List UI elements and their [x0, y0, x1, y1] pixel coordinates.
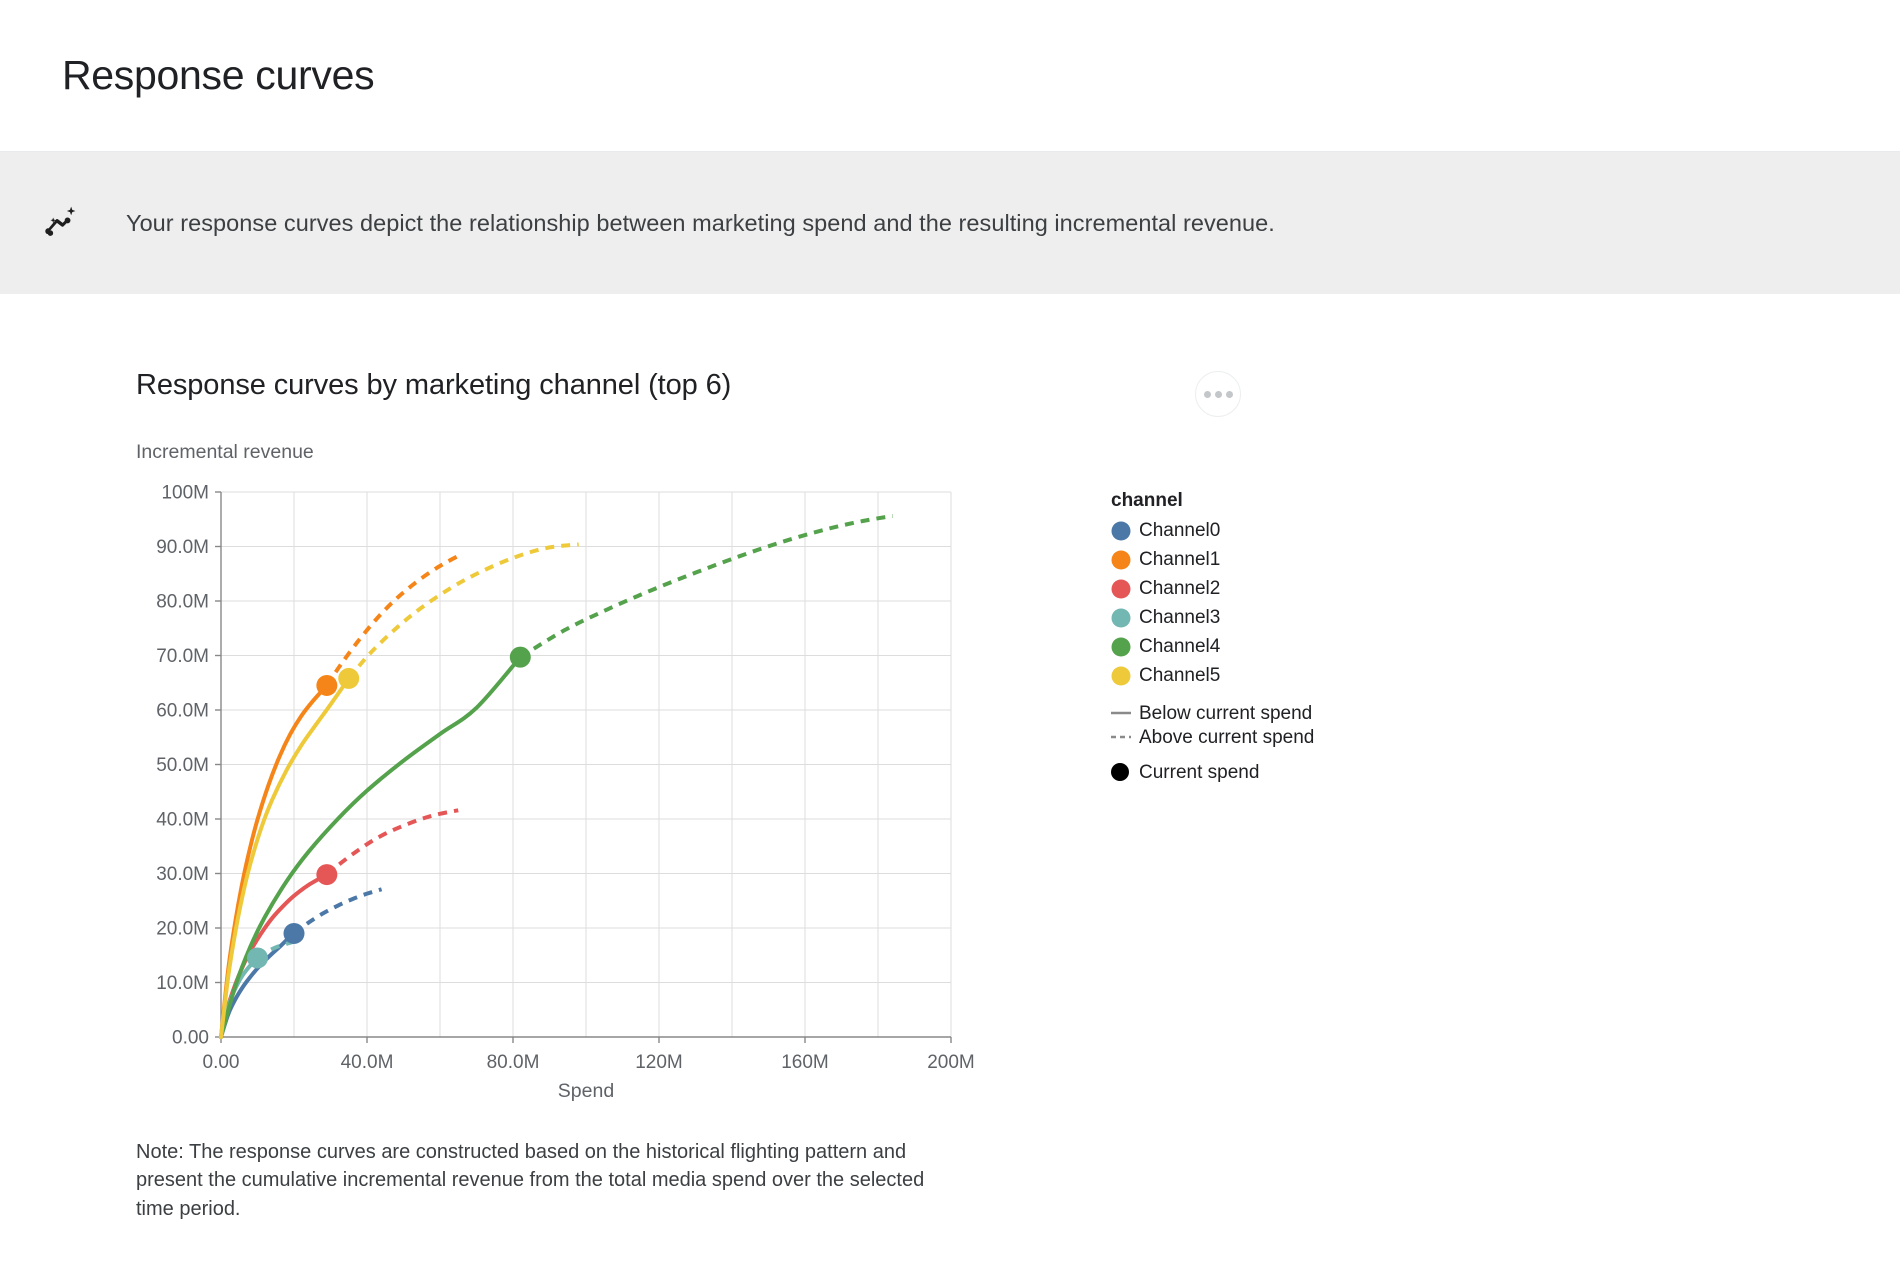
y-axis-title: Incremental revenue	[136, 441, 1266, 464]
legend-marker-current-spend[interactable]	[1111, 763, 1129, 781]
y-tick-label: 10.0M	[156, 973, 209, 994]
y-tick-label: 90.0M	[156, 537, 209, 558]
legend-label-channel3[interactable]: Channel3	[1139, 607, 1220, 628]
current-spend-marker	[284, 923, 305, 944]
legend-swatch-channel3[interactable]	[1112, 609, 1131, 628]
y-tick-label: 20.0M	[156, 919, 209, 940]
y-tick-label: 0.00	[172, 1028, 209, 1049]
current-spend-marker	[510, 647, 531, 668]
x-tick-label: 160M	[781, 1052, 829, 1073]
chart-title: Response curves by marketing channel (to…	[136, 369, 731, 402]
legend-label-current-spend[interactable]: Current spend	[1139, 762, 1259, 783]
x-tick-label: 80.0M	[487, 1052, 540, 1073]
content-area: Response curves by marketing channel (to…	[0, 294, 1900, 1223]
x-axis-title: Spend	[558, 1080, 614, 1102]
current-spend-marker	[316, 675, 337, 696]
legend-label-channel1[interactable]: Channel1	[1139, 549, 1220, 570]
legend-swatch-channel2[interactable]	[1112, 580, 1131, 599]
legend-label-channel4[interactable]: Channel4	[1139, 636, 1221, 657]
page-header: Response curves	[0, 0, 1900, 152]
current-spend-marker	[316, 864, 337, 885]
legend-swatch-channel5[interactable]	[1112, 667, 1131, 686]
y-tick-label: 50.0M	[156, 755, 209, 776]
more-dot-3	[1226, 391, 1233, 398]
curve-above-current-spend	[327, 554, 462, 685]
chart-svg: 0.0010.0M20.0M30.0M40.0M50.0M60.0M70.0M8…	[136, 480, 1316, 1120]
sparkle-trend-icon	[40, 199, 88, 247]
y-tick-label: 60.0M	[156, 701, 209, 722]
x-tick-label: 200M	[927, 1052, 975, 1073]
curve-above-current-spend	[349, 544, 579, 678]
current-spend-marker	[338, 668, 359, 689]
legend-swatch-channel1[interactable]	[1112, 551, 1131, 570]
current-spend-marker	[247, 947, 268, 968]
curve-above-current-spend	[294, 889, 382, 933]
curve-below-current-spend	[221, 657, 520, 1037]
legend-label-channel5[interactable]: Channel5	[1139, 665, 1220, 686]
response-curves-plot: 0.0010.0M20.0M30.0M40.0M50.0M60.0M70.0M8…	[136, 480, 1316, 1120]
chart-legend: channelChannel0Channel1Channel2Channel3C…	[1111, 490, 1314, 783]
x-tick-label: 120M	[635, 1052, 683, 1073]
response-curves-card: Response curves by marketing channel (to…	[136, 369, 1266, 1223]
y-tick-label: 100M	[161, 483, 209, 504]
legend-label-solid[interactable]: Below current spend	[1139, 703, 1312, 724]
legend-label-channel0[interactable]: Channel0	[1139, 520, 1220, 541]
legend-label-dashed[interactable]: Above current spend	[1139, 727, 1314, 748]
legend-title: channel	[1111, 490, 1183, 511]
more-dot-2	[1215, 391, 1222, 398]
chart-note: Note: The response curves are constructe…	[136, 1138, 956, 1223]
y-tick-label: 40.0M	[156, 810, 209, 831]
insight-banner: Your response curves depict the relation…	[0, 152, 1900, 294]
series-channel4	[221, 516, 893, 1037]
x-tick-label: 40.0M	[341, 1052, 394, 1073]
y-tick-label: 80.0M	[156, 592, 209, 613]
curve-above-current-spend	[327, 810, 458, 874]
page-title: Response curves	[62, 53, 374, 98]
insight-banner-text: Your response curves depict the relation…	[126, 210, 1275, 237]
legend-swatch-channel4[interactable]	[1112, 638, 1131, 657]
series-channel5	[221, 544, 579, 1037]
x-tick-label: 0.00	[203, 1052, 240, 1073]
more-options-button[interactable]	[1195, 371, 1241, 417]
more-dot-1	[1204, 391, 1211, 398]
curve-above-current-spend	[520, 516, 892, 657]
y-tick-label: 30.0M	[156, 864, 209, 885]
legend-swatch-channel0[interactable]	[1112, 522, 1131, 541]
legend-label-channel2[interactable]: Channel2	[1139, 578, 1220, 599]
card-header: Response curves by marketing channel (to…	[136, 369, 1246, 417]
y-tick-label: 70.0M	[156, 646, 209, 667]
